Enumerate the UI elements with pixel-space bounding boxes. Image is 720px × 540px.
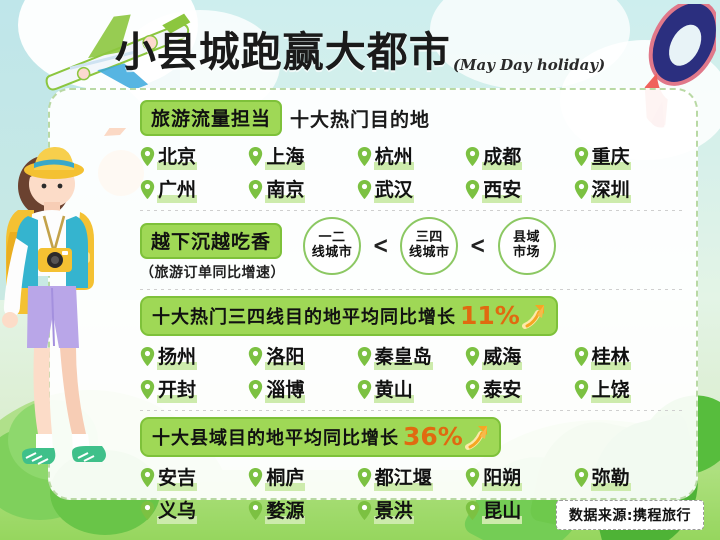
city-name: 义乌 — [157, 496, 197, 524]
location-pin-icon — [574, 147, 589, 166]
location-pin-icon — [574, 468, 589, 487]
city-name: 淄博 — [265, 375, 305, 403]
tier-circle-1-2[interactable]: 一二 线城市 — [303, 217, 361, 275]
city-name: 桐庐 — [265, 463, 305, 491]
location-pin-icon — [248, 380, 263, 399]
tier-growth-sublabel: （旅游订单同比增速） — [140, 262, 285, 282]
pill-label-tier-growth: 越下沉越吃香 — [140, 223, 282, 259]
location-pin-icon — [357, 147, 372, 166]
city-item[interactable]: 上饶 — [574, 375, 682, 403]
city-name: 秦皇岛 — [374, 342, 433, 370]
city-item[interactable]: 上海 — [248, 142, 356, 170]
location-pin-icon — [248, 501, 263, 520]
page-title: 小县城跑赢大都市 — [115, 18, 451, 78]
page-header: 小县城跑赢大都市 (May Day holiday) — [0, 14, 720, 82]
section-tier-growth: 越下沉越吃香 （旅游订单同比增速） 一二 线城市 < 三四 线城市 < 县 — [140, 217, 682, 282]
location-pin-icon — [248, 180, 263, 199]
section-divider — [140, 410, 682, 411]
location-pin-icon — [248, 468, 263, 487]
city-item[interactable]: 威海 — [465, 342, 573, 370]
section-divider — [140, 289, 682, 290]
tier-comparison: 越下沉越吃香 （旅游订单同比增速） 一二 线城市 < 三四 线城市 < 县 — [140, 217, 682, 282]
city-item[interactable]: 洛阳 — [248, 342, 356, 370]
location-pin-icon — [357, 501, 372, 520]
city-name: 西安 — [482, 175, 522, 203]
city-name: 成都 — [482, 142, 522, 170]
section-tier34-destinations: 十大热门三四线目的地平均同比增长 11% 扬州 洛阳 — [140, 296, 682, 403]
city-name: 上饶 — [591, 375, 631, 403]
city-item[interactable]: 西安 — [465, 175, 573, 203]
city-name: 安吉 — [157, 463, 197, 491]
growth-arrow-up-icon — [522, 303, 548, 329]
location-pin-icon — [357, 347, 372, 366]
location-pin-icon — [465, 380, 480, 399]
banner-text: 十大县域目的地平均同比增长 — [152, 424, 399, 450]
city-item[interactable]: 桂林 — [574, 342, 682, 370]
location-pin-icon — [574, 347, 589, 366]
city-item[interactable]: 成都 — [465, 142, 573, 170]
tier-line-1: 一二 — [318, 231, 345, 246]
page-subtitle: (May Day holiday) — [453, 56, 605, 82]
city-item[interactable]: 广州 — [140, 175, 248, 203]
growth-arrow-up-icon — [465, 424, 491, 450]
city-item[interactable]: 开封 — [140, 375, 248, 403]
tier-line-2: 线城市 — [312, 246, 353, 261]
city-grid-top-destinations: 北京 上海 杭州 成都 重庆 — [140, 142, 682, 203]
city-name: 深圳 — [591, 175, 631, 203]
city-name: 重庆 — [591, 142, 631, 170]
city-item[interactable]: 杭州 — [357, 142, 465, 170]
banner-tier34-growth: 十大热门三四线目的地平均同比增长 11% — [140, 296, 558, 336]
city-name: 上海 — [265, 142, 305, 170]
city-name: 扬州 — [157, 342, 197, 370]
city-name: 南京 — [265, 175, 305, 203]
location-pin-icon — [465, 180, 480, 199]
banner-percent: 11% — [460, 301, 520, 330]
location-pin-icon — [357, 180, 372, 199]
banner-percent: 36% — [403, 422, 463, 451]
city-name: 弥勒 — [591, 463, 631, 491]
city-name: 婺源 — [265, 496, 305, 524]
city-item[interactable]: 安吉 — [140, 463, 248, 491]
tier-line-1: 县域 — [513, 231, 540, 246]
card-inner: 旅游流量担当 十大热门目的地 北京 上海 杭州 成都 — [140, 90, 682, 498]
data-source-label: 数据来源:携程旅行 — [556, 500, 704, 530]
location-pin-icon — [465, 468, 480, 487]
city-name: 昆山 — [482, 496, 522, 524]
city-item[interactable]: 南京 — [248, 175, 356, 203]
city-name: 开封 — [157, 375, 197, 403]
tier-circle-3-4[interactable]: 三四 线城市 — [400, 217, 458, 275]
headline-top-destinations: 十大热门目的地 — [290, 105, 430, 132]
city-item[interactable]: 桐庐 — [248, 463, 356, 491]
section-top-destinations: 旅游流量担当 十大热门目的地 北京 上海 杭州 成都 — [140, 90, 682, 203]
city-name: 黄山 — [374, 375, 414, 403]
banner-county-growth: 十大县域目的地平均同比增长 36% — [140, 417, 501, 457]
city-name: 泰安 — [482, 375, 522, 403]
city-name: 洛阳 — [265, 342, 305, 370]
city-item[interactable]: 秦皇岛 — [357, 342, 465, 370]
city-item[interactable]: 景洪 — [357, 496, 465, 524]
city-item[interactable]: 弥勒 — [574, 463, 682, 491]
city-name: 武汉 — [374, 175, 414, 203]
location-pin-icon — [574, 380, 589, 399]
city-item[interactable]: 武汉 — [357, 175, 465, 203]
tier-circle-row: 一二 线城市 < 三四 线城市 < 县域 市场 — [303, 217, 556, 275]
section-divider — [140, 210, 682, 211]
city-name: 威海 — [482, 342, 522, 370]
city-item[interactable]: 阳朔 — [465, 463, 573, 491]
city-name: 广州 — [157, 175, 197, 203]
city-item[interactable]: 扬州 — [140, 342, 248, 370]
location-pin-icon — [357, 380, 372, 399]
city-name: 北京 — [157, 142, 197, 170]
tier-line-2: 线城市 — [409, 246, 450, 261]
city-item[interactable]: 婺源 — [248, 496, 356, 524]
city-item[interactable]: 都江堰 — [357, 463, 465, 491]
city-item[interactable]: 泰安 — [465, 375, 573, 403]
location-pin-icon — [465, 501, 480, 520]
less-than-symbol: < — [470, 233, 486, 259]
tier-line-1: 三四 — [416, 231, 443, 246]
location-pin-icon — [465, 347, 480, 366]
traveler-illustration — [0, 128, 154, 540]
city-grid-tier34: 扬州 洛阳 秦皇岛 威海 桂林 — [140, 342, 682, 403]
tier-growth-label-block: 越下沉越吃香 （旅游订单同比增速） — [140, 217, 285, 282]
city-name: 桂林 — [591, 342, 631, 370]
tier-circle-county[interactable]: 县域 市场 — [498, 217, 556, 275]
city-item[interactable]: 黄山 — [357, 375, 465, 403]
city-name: 景洪 — [374, 496, 414, 524]
section-heading: 旅游流量担当 十大热门目的地 — [140, 100, 682, 136]
city-item[interactable]: 重庆 — [574, 142, 682, 170]
city-name: 阳朔 — [482, 463, 522, 491]
city-item[interactable]: 深圳 — [574, 175, 682, 203]
city-name: 都江堰 — [374, 463, 433, 491]
location-pin-icon — [465, 147, 480, 166]
banner-text: 十大热门三四线目的地平均同比增长 — [152, 303, 456, 329]
city-item[interactable]: 北京 — [140, 142, 248, 170]
city-item[interactable]: 淄博 — [248, 375, 356, 403]
location-pin-icon — [574, 180, 589, 199]
location-pin-icon — [357, 468, 372, 487]
pill-label-top-destinations: 旅游流量担当 — [140, 100, 282, 136]
tier-line-2: 市场 — [513, 246, 540, 261]
city-item[interactable]: 义乌 — [140, 496, 248, 524]
city-name: 杭州 — [374, 142, 414, 170]
location-pin-icon — [248, 347, 263, 366]
less-than-symbol: < — [372, 233, 388, 259]
location-pin-icon — [248, 147, 263, 166]
